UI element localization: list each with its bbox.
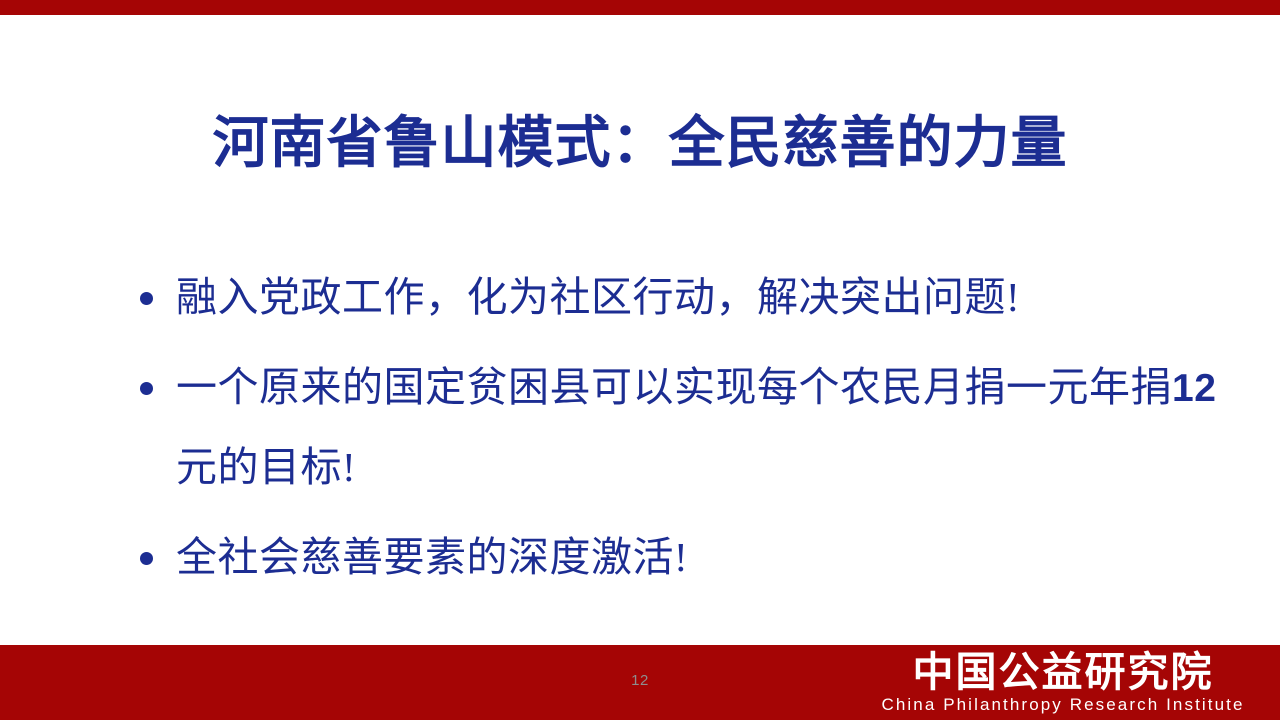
logo-chinese-name: 中国公益研究院 bbox=[913, 650, 1214, 694]
slide-body: 融入党政工作，化为社区行动，解决突出问题! 一个原来的国定贫困县可以实现每个农民… bbox=[132, 258, 1222, 596]
bullet-text: 一个原来的国定贫困县可以实现每个农民月捐一元年捐12元的目标! bbox=[176, 348, 1222, 506]
bullet-text: 全社会慈善要素的深度激活! bbox=[176, 518, 1222, 596]
organization-logo: 中国公益研究院 China Philanthropy Research Inst… bbox=[854, 645, 1272, 720]
top-accent-band bbox=[0, 0, 1280, 15]
logo-english-name: China Philanthropy Research Institute bbox=[881, 695, 1244, 715]
list-item: 融入党政工作，化为社区行动，解决突出问题! bbox=[132, 258, 1222, 336]
bullet-number-emphasis: 12 bbox=[1172, 367, 1216, 410]
list-item: 一个原来的国定贫困县可以实现每个农民月捐一元年捐12元的目标! bbox=[132, 348, 1222, 506]
list-item: 全社会慈善要素的深度激活! bbox=[132, 518, 1222, 596]
bullet-text: 融入党政工作，化为社区行动，解决突出问题! bbox=[176, 258, 1222, 336]
slide: 河南省鲁山模式：全民慈善的力量 融入党政工作，化为社区行动，解决突出问题! 一个… bbox=[0, 0, 1280, 720]
bullet-text-after: 元的目标! bbox=[176, 444, 356, 490]
footer-band: 12 中国公益研究院 China Philanthropy Research I… bbox=[0, 645, 1280, 720]
bullet-dot-icon bbox=[140, 382, 153, 395]
slide-title-container: 河南省鲁山模式：全民慈善的力量 bbox=[0, 112, 1280, 176]
bullet-text-before: 一个原来的国定贫困县可以实现每个农民月捐一元年捐 bbox=[176, 364, 1172, 410]
bullet-list: 融入党政工作，化为社区行动，解决突出问题! 一个原来的国定贫困县可以实现每个农民… bbox=[132, 258, 1222, 596]
bullet-dot-icon bbox=[140, 292, 153, 305]
page-title: 河南省鲁山模式：全民慈善的力量 bbox=[213, 112, 1068, 176]
bullet-dot-icon bbox=[140, 552, 153, 565]
